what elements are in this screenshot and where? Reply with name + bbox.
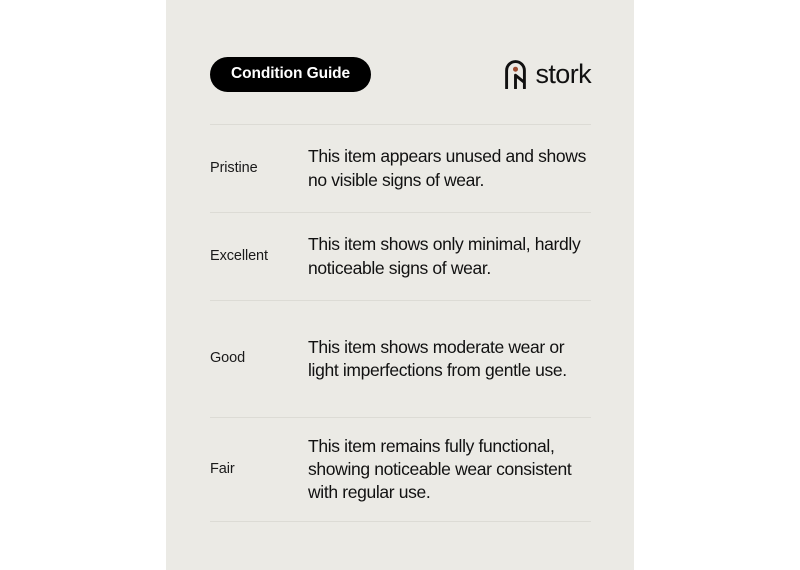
- stork-arch-logo-icon: [504, 59, 527, 89]
- condition-description: This item appears unused and shows no vi…: [308, 145, 591, 192]
- condition-description: This item remains fully functional, show…: [308, 435, 591, 505]
- card-header: Condition Guide stork: [210, 56, 591, 92]
- condition-table: Pristine This item appears unused and sh…: [210, 124, 591, 522]
- table-row: Excellent This item shows only minimal, …: [210, 213, 591, 300]
- page-root: Condition Guide stork Pristine This item…: [0, 0, 800, 570]
- table-row: Good This item shows moderate wear or li…: [210, 301, 591, 417]
- condition-guide-card: Condition Guide stork Pristine This item…: [166, 0, 634, 570]
- condition-label: Pristine: [210, 160, 308, 177]
- brand-lockup: stork: [504, 59, 591, 89]
- condition-description: This item shows moderate wear or light i…: [308, 336, 591, 383]
- table-divider-bottom: [210, 521, 591, 522]
- condition-description: This item shows only minimal, hardly not…: [308, 233, 591, 280]
- condition-label: Fair: [210, 461, 308, 478]
- condition-guide-badge: Condition Guide: [210, 57, 371, 92]
- condition-label: Excellent: [210, 248, 308, 265]
- condition-label: Good: [210, 350, 308, 367]
- table-row: Pristine This item appears unused and sh…: [210, 125, 591, 212]
- table-row: Fair This item remains fully functional,…: [210, 418, 591, 521]
- brand-name: stork: [535, 61, 591, 88]
